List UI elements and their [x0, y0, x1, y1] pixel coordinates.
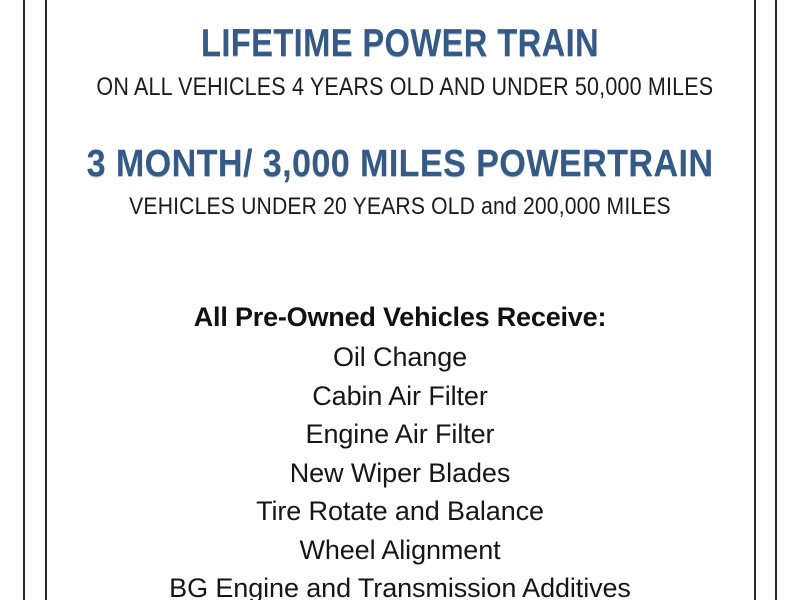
warranty-title-three-month: 3 MONTH/ 3,000 MILES POWERTRAIN	[82, 142, 717, 186]
frame-rule-right-inner	[754, 0, 756, 600]
flyer-content: LIFETIME POWER TRAIN ON ALL VEHICLES 4 Y…	[47, 0, 753, 600]
frame-rule-left-outer	[23, 0, 25, 600]
list-item: BG Engine and Transmission Additives	[47, 569, 753, 600]
list-item: Cabin Air Filter	[47, 377, 753, 416]
list-item: New Wiper Blades	[47, 454, 753, 493]
warranty-offer-lifetime: LIFETIME POWER TRAIN ON ALL VEHICLES 4 Y…	[47, 0, 753, 102]
warranty-title-lifetime: LIFETIME POWER TRAIN	[103, 22, 696, 66]
warranty-subtitle-lifetime: ON ALL VEHICLES 4 YEARS OLD AND UNDER 50…	[96, 72, 703, 102]
warranty-flyer: LIFETIME POWER TRAIN ON ALL VEHICLES 4 Y…	[0, 0, 800, 600]
list-item: Tire Rotate and Balance	[47, 492, 753, 531]
list-item: Engine Air Filter	[47, 415, 753, 454]
services-heading: All Pre-Owned Vehicles Receive:	[47, 298, 753, 336]
warranty-subtitle-three-month: VEHICLES UNDER 20 YEARS OLD and 200,000 …	[89, 192, 710, 222]
list-item: Wheel Alignment	[47, 531, 753, 570]
services-section: All Pre-Owned Vehicles Receive: Oil Chan…	[47, 298, 753, 600]
frame-rule-right-outer	[775, 0, 777, 600]
list-item: Oil Change	[47, 338, 753, 377]
warranty-offer-three-month: 3 MONTH/ 3,000 MILES POWERTRAIN VEHICLES…	[47, 102, 753, 222]
services-list: Oil Change Cabin Air Filter Engine Air F…	[47, 338, 753, 600]
